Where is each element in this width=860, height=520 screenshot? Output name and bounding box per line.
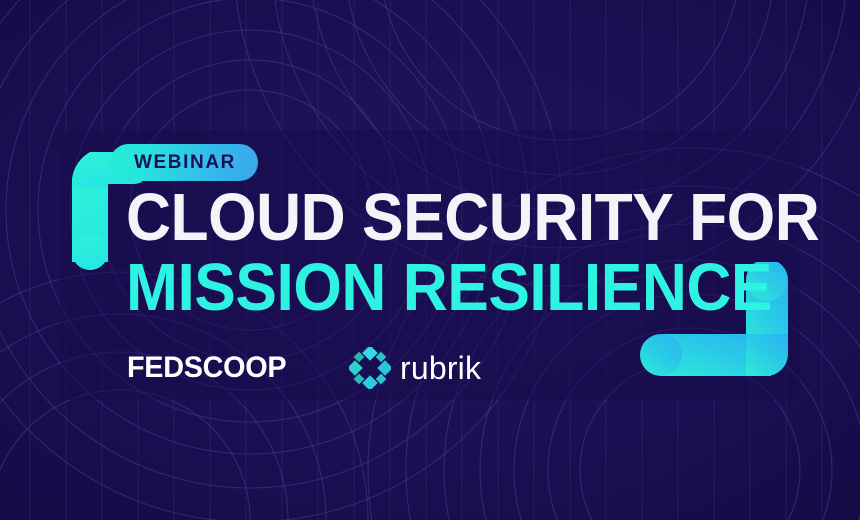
webinar-badge-label: WEBINAR <box>134 153 236 172</box>
headline-line-primary: CLOUD SECURITY FOR <box>126 186 777 250</box>
webinar-badge: WEBINAR <box>110 144 258 181</box>
rubrik-logo: rubrik <box>349 347 481 389</box>
logo-lockup: FEDSCOOP rubrik <box>127 347 481 389</box>
rubrik-wordmark: rubrik <box>400 352 481 384</box>
headline-line-secondary: MISSION RESILIENCE <box>126 256 777 320</box>
fedscoop-logo: FEDSCOOP <box>127 353 286 383</box>
headline-block: CLOUD SECURITY FOR MISSION RESILIENCE <box>126 186 826 321</box>
webinar-promo-banner: WEBINAR CLOUD SECURITY FOR MISSION RESIL… <box>0 0 860 520</box>
rubrik-diamond-mark <box>349 347 391 389</box>
